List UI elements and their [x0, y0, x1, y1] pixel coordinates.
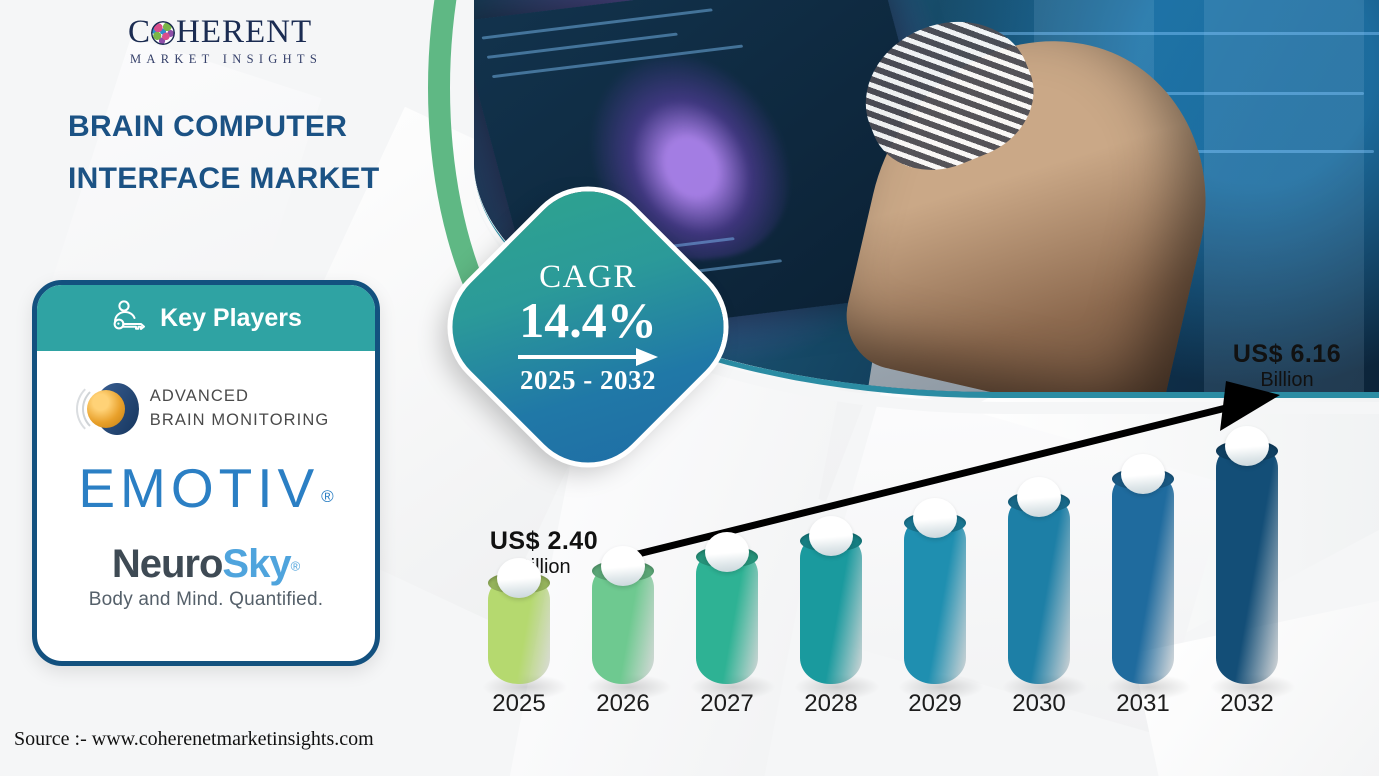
bar-body: [1008, 493, 1070, 684]
source-attribution: Source :- www.coherenetmarketinsights.co…: [14, 728, 374, 751]
bar-cap: [809, 516, 853, 556]
bar: [696, 548, 758, 684]
bar-body: [904, 514, 966, 684]
colored-dot-grid-icon: [151, 21, 175, 45]
bar-chart: US$ 2.40 Billion US$ 6.16 Billion 202520…: [470, 415, 1350, 720]
neurosky-tagline: Body and Mind. Quantified.: [89, 589, 323, 611]
emotiv-registered-mark: ®: [321, 487, 334, 507]
annotation-end-value: US$ 6.16 Billion: [1212, 340, 1362, 392]
company-logo[interactable]: C HERENT MARKET INSIGHTS: [128, 16, 364, 67]
bar: [1112, 470, 1174, 684]
infographic-canvas: C HERENT MARKET INSIGHTS BRAIN COMPUTER …: [0, 0, 1379, 776]
bar-label-2027: 2027: [690, 690, 764, 718]
key-player-logo-advanced-brain-monitoring[interactable]: ADVANCED BRAIN MONITORING: [83, 381, 330, 437]
bar-body: [1216, 442, 1278, 684]
logo-tagline: MARKET INSIGHTS: [128, 52, 364, 67]
cagr-value: 14.4%: [519, 295, 657, 346]
cagr-period: 2025 - 2032: [520, 365, 656, 396]
logo-text-part1: C: [128, 16, 151, 49]
cagr-heading: CAGR: [539, 259, 637, 296]
bar-body: [1112, 470, 1174, 684]
key-player-logo-emotiv[interactable]: EMOTIV ®: [78, 463, 333, 514]
bar-label-2028: 2028: [794, 690, 868, 718]
bar-cap: [497, 558, 541, 598]
bar-cap: [1017, 477, 1061, 517]
bar-cap: [705, 532, 749, 572]
bar: [488, 574, 550, 684]
logo-text-part2: HERENT: [176, 16, 312, 49]
bar: [1216, 442, 1278, 684]
annotation-start-number: US$ 2.40: [474, 527, 614, 556]
key-players-label: Key Players: [160, 304, 302, 333]
page-title: BRAIN COMPUTER INTERFACE MARKET: [68, 101, 468, 204]
bar-label-2026: 2026: [586, 690, 660, 718]
right-arrow-icon: [518, 351, 658, 363]
key-players-header: Key Players: [37, 285, 375, 351]
bar-label-2032: 2032: [1210, 690, 1284, 718]
emotiv-name: EMOTIV: [78, 463, 319, 514]
abm-name-line1: ADVANCED: [150, 385, 330, 409]
neurosky-name-part1: Neuro: [112, 542, 223, 586]
bar-cap: [913, 498, 957, 538]
bar: [1008, 493, 1070, 684]
bar: [800, 532, 862, 684]
bar-label-2029: 2029: [898, 690, 972, 718]
gold-sphere-crescent-icon: [83, 381, 139, 437]
annotation-end-number: US$ 6.16: [1212, 340, 1362, 369]
bar-label-2031: 2031: [1106, 690, 1180, 718]
key-players-card: Key Players ADVANCED BRAIN MONITORING EM…: [32, 280, 380, 666]
neurosky-name-part2: Sky: [222, 542, 290, 586]
bar-label-2030: 2030: [1002, 690, 1076, 718]
person-with-key-icon: [110, 300, 148, 337]
annotation-end-unit: Billion: [1212, 369, 1362, 392]
bar-label-2025: 2025: [482, 690, 556, 718]
bar-cap: [1121, 454, 1165, 494]
key-player-logo-neurosky[interactable]: NeuroSky® Body and Mind. Quantified.: [89, 542, 323, 611]
abm-name-line2: BRAIN MONITORING: [150, 409, 330, 433]
bar-cap: [601, 546, 645, 586]
bar: [592, 562, 654, 684]
bar: [904, 514, 966, 684]
bar-cap: [1225, 426, 1269, 466]
neurosky-registered-mark: ®: [291, 558, 301, 573]
